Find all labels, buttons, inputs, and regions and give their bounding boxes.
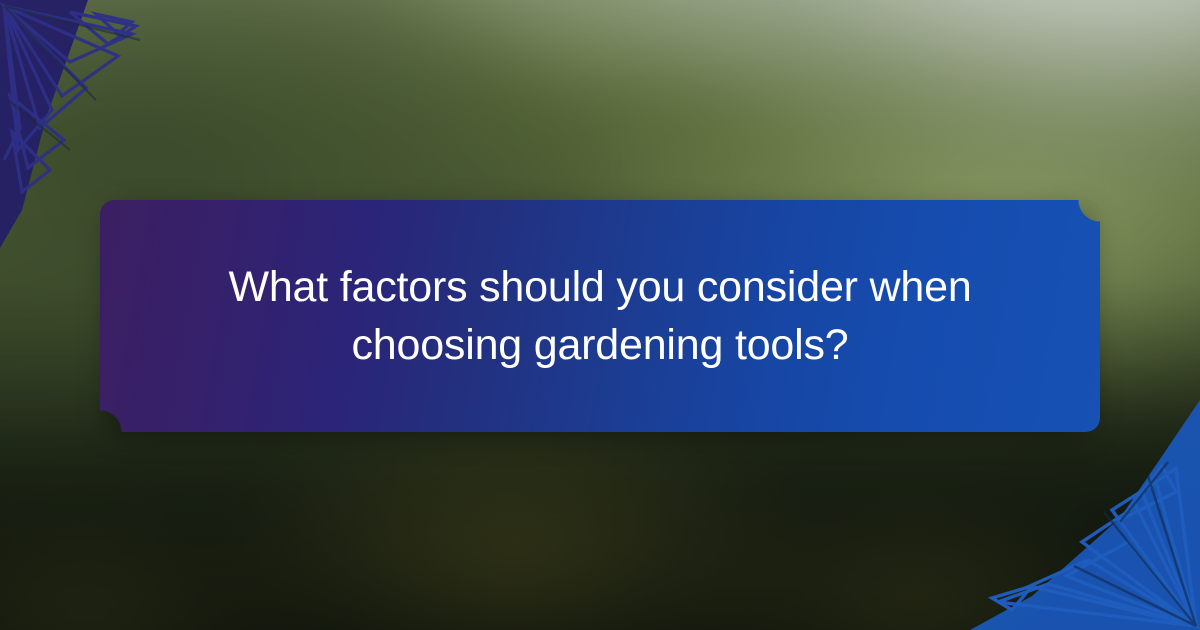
poster-canvas: What factors should you consider when ch…	[0, 0, 1200, 630]
question-card-wrapper: What factors should you consider when ch…	[100, 200, 1100, 432]
question-card: What factors should you consider when ch…	[100, 200, 1100, 432]
question-text: What factors should you consider when ch…	[175, 258, 1025, 375]
